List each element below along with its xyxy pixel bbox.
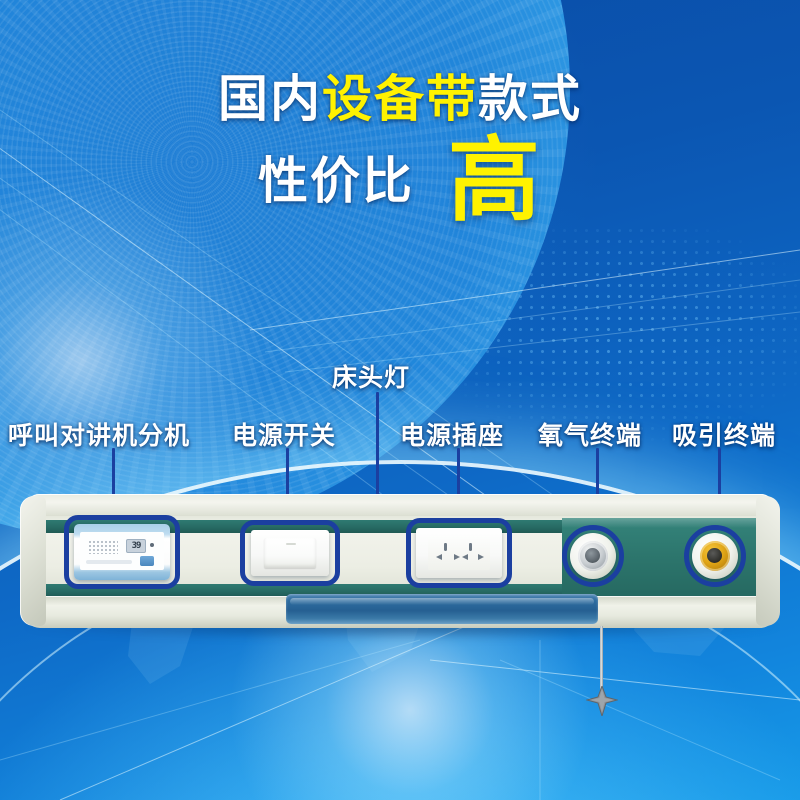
headline-block: 国内设备带款式 性价比 高 bbox=[0, 74, 800, 223]
headline-line-2: 性价比 高 bbox=[0, 140, 800, 223]
panel-end-cap-right bbox=[756, 496, 780, 626]
highlight-box-power-socket bbox=[406, 518, 512, 588]
headline-seg-style: 款式 bbox=[478, 71, 582, 127]
pull-cord-weight-icon[interactable] bbox=[586, 686, 618, 716]
highlight-box-intercom bbox=[64, 515, 180, 589]
headline-value-for-money: 性价比 bbox=[258, 156, 414, 206]
highlight-box-power-switch bbox=[240, 520, 340, 586]
callout-label-intercom: 呼叫对讲机分机 bbox=[8, 416, 190, 452]
panel-blue-cylinder-gloss bbox=[290, 598, 594, 605]
halftone-dot-map bbox=[460, 225, 800, 445]
headline-emphasis-high: 高 bbox=[448, 140, 542, 223]
panel-end-cap-left bbox=[20, 496, 46, 626]
headline-line-1: 国内设备带款式 bbox=[0, 74, 800, 124]
headline-seg-equipment-belt: 设备带 bbox=[322, 71, 478, 127]
poster-canvas: 国内设备带款式 性价比 高 呼叫对讲机分机 电源开关 床头灯 电源插座 氧气终端… bbox=[0, 0, 800, 800]
callout-label-power-socket: 电源插座 bbox=[400, 416, 504, 452]
callout-label-power-switch: 电源开关 bbox=[232, 416, 336, 452]
highlight-circle-oxygen bbox=[562, 525, 624, 587]
highlight-circle-suction bbox=[684, 525, 746, 587]
callout-label-suction-outlet: 吸引终端 bbox=[672, 416, 776, 452]
callout-label-oxygen-outlet: 氧气终端 bbox=[538, 416, 642, 452]
pull-cord[interactable] bbox=[600, 626, 603, 692]
headline-seg-domestic: 国内 bbox=[218, 71, 322, 127]
callout-label-bedside-lamp: 床头灯 bbox=[332, 358, 410, 394]
